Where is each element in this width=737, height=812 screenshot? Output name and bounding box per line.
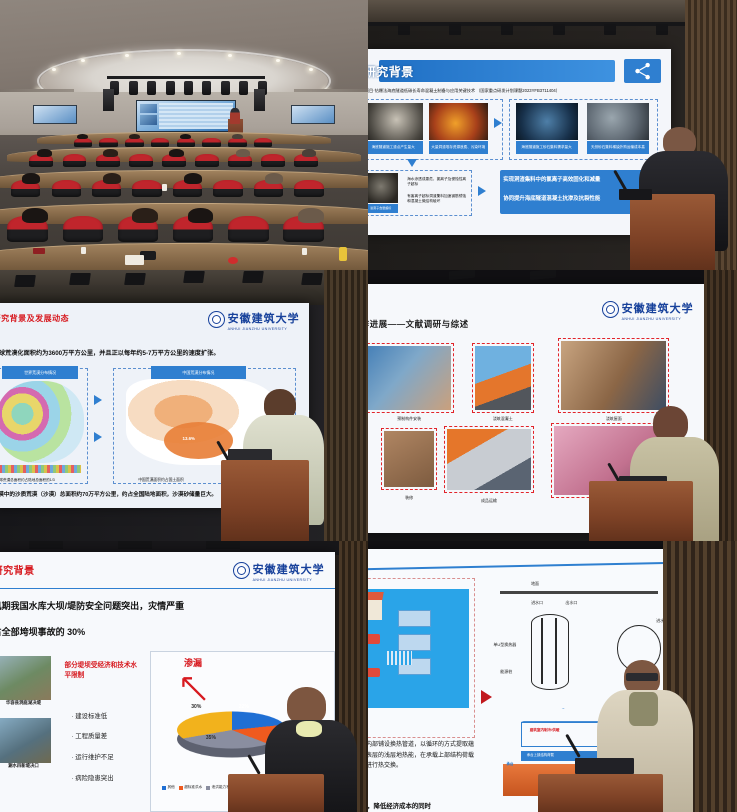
arrow-right-icon (481, 690, 492, 704)
presenter-head (653, 406, 688, 441)
callout-bullet-label: 建设标准低 (75, 713, 107, 720)
laptop (619, 189, 652, 200)
stage-lamp (239, 81, 248, 95)
audience-head (103, 149, 118, 157)
audience-head (298, 208, 324, 223)
photo-label: 海底隧道施工砂石集料需求量大 (516, 141, 578, 154)
map-caption-left: 全球荒漠总面积约占陆地总面积的1/3 (0, 478, 55, 483)
audience-head (22, 173, 40, 184)
seat (213, 180, 242, 198)
ceiling-band (368, 0, 737, 22)
seat (261, 154, 285, 168)
concrete-pour-photo (475, 346, 531, 410)
stage-lamp (14, 275, 36, 287)
pump-icon (368, 668, 380, 678)
u-tube (555, 618, 557, 684)
legend-swatch (206, 786, 210, 790)
stage-lamp (553, 24, 565, 35)
paper-sheet (125, 255, 144, 265)
conclusion-line: 实现洞渣集料中的氯离子高效固化和减量 (503, 175, 600, 183)
callout-bullet: · 工程质量差 (71, 731, 107, 740)
heat-exchanger-icon (398, 610, 431, 627)
audience-head (188, 208, 214, 223)
photo-label: 海底隧道施工渣点产生量大 (368, 141, 423, 154)
chloride-photo (368, 173, 398, 203)
podium (538, 774, 663, 812)
diagram-label-hvac: 建筑室内制冷/供暖 (530, 728, 560, 733)
dam-breach-photo-1 (0, 656, 51, 700)
university-name-cn: 安徽建筑大学 (228, 313, 300, 325)
slide-footer-text: 占面积，降低经济成本的同时 (368, 801, 431, 810)
stage-lamp (656, 24, 668, 35)
seat (151, 138, 169, 147)
glasses-icon (626, 673, 659, 681)
slide-bullet: 有害离子超标洞渣集料加速钢筋锈蚀和混凝土微结构破坏 (407, 194, 469, 204)
legend-swatch (162, 786, 166, 790)
university-name-en: ANHUI JIANZHU UNIVERSITY (228, 327, 300, 331)
stage-lamp (184, 81, 193, 95)
legend-label: 超标准洪水 (184, 785, 202, 790)
water-bottle (339, 247, 347, 261)
photo-caption: 华容县洞庭湖决堤 (0, 700, 58, 706)
callout-bullet-label: 工程质量差 (75, 733, 107, 740)
panel-literature-review: 安徽建筑大学 ANHUI JIANZHU UNIVERSITY 作进展——文献调… (368, 270, 737, 541)
callout-title: 部分堤坝受经济和技术水平限制 (65, 661, 140, 681)
slide-table-rows (159, 103, 233, 129)
downlight (52, 68, 56, 71)
projection-screen: 研究背景 子项目·钻爆法海底隧道低碳长寿命混凝土制备与应用关键技术 （国家重点研… (368, 49, 671, 235)
downlight (309, 68, 313, 71)
tunnel-photo (368, 103, 423, 140)
divider (0, 588, 335, 589)
podium (221, 460, 309, 541)
photo-caption: 涮水四新堤决口 (0, 763, 58, 769)
stage-lamp (147, 81, 156, 95)
stage-lamp (449, 24, 461, 35)
chart-annotation: 渗漏 (184, 656, 202, 669)
presenter-head (287, 687, 326, 723)
podium (228, 774, 324, 812)
coil-icon (387, 651, 413, 665)
laptop (575, 758, 634, 774)
notebook (33, 248, 45, 254)
side-screen-left (33, 105, 77, 124)
diagram-label-outlet: 出水口 (565, 600, 577, 606)
slide-headline: 汛期我国水库大坝/堤防安全问题突出，灾情严重 (0, 599, 184, 612)
audience-head (103, 173, 121, 184)
seating-area (0, 135, 368, 270)
audience-head (232, 134, 243, 139)
speaker-cabinet-left (103, 89, 114, 111)
audience-head (265, 173, 283, 184)
stage-lamp (221, 81, 230, 95)
panel-research-background-tunnel: 研究背景 子项目·钻爆法海底隧道低碳长寿命混凝土制备与应用关键技术 （国家重点研… (368, 0, 737, 270)
audience-head (22, 208, 48, 223)
stage-lamp (604, 24, 616, 35)
university-name-en: ANHUI JIANZHU UNIVERSITY (622, 317, 694, 321)
u-tube (541, 618, 543, 684)
interior-finishing-photo (384, 431, 433, 487)
stage-lamp (118, 541, 152, 549)
side-screen-right (291, 105, 335, 124)
slide-subtitle: 子项目·钻爆法海底隧道低碳长寿命混凝土制备与应用关键技术 （国家重点研发计划课题… (368, 88, 560, 94)
photo-frame (381, 428, 436, 490)
panel-auditorium (0, 0, 368, 270)
callout-bullet-label: 运行维护不足 (75, 754, 113, 761)
stage-backdrop: 安徽建筑大学 ANHUI JIANZHU UNIVERSITY 作进展——文献调… (368, 270, 737, 541)
presenter-collar (296, 721, 322, 737)
callout-bullet: · 运行维护不足 (71, 752, 113, 761)
stage-lamp (206, 541, 240, 549)
photo-caption: 成品运输 (451, 498, 527, 504)
audience-head (129, 134, 140, 139)
photo-frame (444, 426, 534, 493)
legend-swatch (179, 786, 183, 790)
legend-label: 其他 (168, 785, 175, 790)
pie-label-discharge: 35% (206, 735, 216, 741)
presenter (230, 108, 240, 124)
panel-energy-pile: 地面 进水口 出水口 单U型换热器 能源桩 进水口 建筑室内制冷/供暖 (368, 541, 737, 812)
callout-bullet: · 病险隐患突出 (71, 773, 113, 782)
slide-title: 研究背景及发展动态 (0, 313, 69, 324)
diagram-label-cap: 承台 (506, 762, 513, 767)
seat (195, 154, 219, 168)
stage-backdrop: 研究背景 安徽建筑大学 ANHUI JIANZHU UNIVERSITY 汛期我… (0, 541, 368, 812)
product-transport-photo (447, 429, 531, 490)
roof-outline (521, 708, 606, 721)
china-value-label: 13.6% (183, 436, 195, 441)
seat (177, 138, 195, 147)
arrow-right-icon (94, 395, 102, 405)
seat (254, 138, 272, 147)
university-logo: 安徽建筑大学 ANHUI JIANZHU UNIVERSITY (208, 309, 300, 331)
audience-head (236, 149, 251, 157)
photo-frame (558, 338, 669, 413)
diagram-label-inlet: 进水口 (531, 600, 543, 606)
stage-lamp (301, 273, 323, 285)
seat (202, 138, 220, 147)
cup (81, 247, 86, 254)
legend-item: 其他 (162, 785, 175, 790)
building-outline (521, 722, 606, 747)
world-map-image (0, 381, 84, 463)
share-icon-tile (624, 59, 661, 83)
red-object (228, 257, 238, 264)
diagram-label-exchanger: 单U型换热器 (493, 642, 516, 648)
audience-head (77, 134, 88, 139)
slide-title: 研究背景 (0, 562, 35, 577)
panel-dam-safety: 研究背景 安徽建筑大学 ANHUI JIANZHU UNIVERSITY 汛期我… (0, 541, 368, 812)
stage-lamp (242, 271, 264, 283)
university-seal-icon (233, 562, 250, 579)
university-seal-icon (208, 311, 225, 328)
seat (63, 216, 103, 242)
stage-lamp (183, 271, 205, 283)
callout-bullet: · 建设标准低 (71, 711, 107, 720)
map-legend (0, 465, 81, 473)
slide-thumbnail-bottom (140, 115, 157, 124)
pile-cylinder (531, 614, 569, 690)
desk-row-front (0, 243, 368, 270)
slide-title: 研究背景 (368, 63, 414, 80)
university-name-en: ANHUI JIANZHU UNIVERSITY (253, 578, 325, 582)
dam-breach-photo-2 (0, 718, 51, 762)
diagram-label-ground: 地面 (531, 581, 539, 587)
arrow-right-icon (94, 432, 102, 442)
pump-icon (368, 634, 380, 644)
stage-lamp (166, 81, 175, 95)
arrow-right-icon (494, 118, 502, 128)
stage-truss (107, 76, 265, 79)
ground-line (500, 591, 658, 594)
seat (228, 138, 246, 147)
pie-label-seepage: 30% (191, 704, 201, 710)
seat (294, 180, 323, 198)
audience-head (184, 173, 202, 184)
audience-head (302, 149, 317, 157)
audience-head (169, 149, 184, 157)
muck-pile-photo (429, 103, 488, 140)
photo-collage: 研究背景 子项目·钻爆法海底隧道低碳长寿命混凝土制备与应用关键技术 （国家重点研… (0, 0, 737, 812)
seat (52, 180, 81, 198)
legend-item: 超标准洪水 (179, 785, 202, 790)
audience-head (37, 149, 52, 157)
panel-desertification: 研究背景及发展动态 安徽建筑大学 ANHUI JIANZHU UNIVERSIT… (0, 270, 368, 541)
roof-pour-photo (561, 341, 666, 410)
conclusion-line: 协同提升海底隧道混凝土抗渗及抗裂性能 (503, 194, 600, 202)
seat (125, 138, 143, 147)
audience-head (132, 208, 158, 223)
photo-frame (472, 343, 534, 413)
stage-lamp (129, 81, 138, 95)
podium (630, 194, 715, 270)
slide-body-text: 全球荒漠化面积约为3600万平方公里，并且正以每年约5-7万平方公里的速度扩张。 (0, 348, 303, 357)
map-label-right: 中国荒漠分布情况 (151, 366, 246, 378)
heat-exchanger-icon (398, 634, 431, 651)
system-schematic-image (368, 589, 469, 709)
university-name-cn: 安徽建筑大学 (253, 564, 325, 576)
photo-caption: 装修 (381, 495, 436, 501)
seat (228, 216, 268, 242)
stage-lamp (501, 24, 513, 35)
slide-bullet: 海水渗透成患危，氯离子及侵蚀性离子超标 (407, 177, 469, 187)
stage-lamp (202, 81, 211, 95)
photo-caption: 浇筑混凝土 (472, 416, 534, 422)
map-label-left: 世界荒漠分布情况 (2, 366, 78, 378)
main-projection-screen (136, 100, 235, 132)
photo-frame (368, 343, 454, 413)
photo-caption: 预制构件安装 (371, 416, 447, 422)
stage-lamp (398, 24, 410, 35)
slide-body-text: 在桩体内部铺设换热管道，以循环的方式提取蕴藏在地表层的浅层地热能，在承载上部结构… (368, 740, 475, 771)
pie-label-other: 22% (239, 704, 249, 710)
photo-label: 氯离子含量超标 (368, 204, 398, 213)
wood-slat-wall (324, 270, 368, 541)
cup (302, 248, 307, 255)
seat (63, 154, 87, 168)
diagram-label-pile: 能源桩 (500, 669, 512, 675)
university-logo: 安徽建筑大学 ANHUI JIANZHU UNIVERSITY (233, 560, 325, 582)
speaker-cabinet-right (254, 89, 265, 111)
aggregate-photo (516, 103, 578, 140)
divider (368, 562, 678, 571)
seat (74, 138, 92, 147)
stage-lamp (29, 541, 63, 549)
podium (589, 481, 692, 541)
map-caption-right: 中国荒漠面积约占国土面积 (138, 478, 184, 483)
stage-lamp (69, 273, 91, 285)
slide-subline: 占全部垮坝事故的 30% (0, 625, 85, 638)
schematic-frame (368, 578, 475, 737)
presenter-shirt (629, 692, 658, 727)
diagram-label-load: 承台上部结构荷载 (527, 752, 554, 757)
chart-legend: 其他 超标准洪水 泄洪能力不足 (162, 785, 233, 790)
arrow-right-icon (478, 186, 486, 196)
stage-backdrop: 研究背景及发展动态 安徽建筑大学 ANHUI JIANZHU UNIVERSIT… (0, 270, 368, 541)
cup (162, 184, 167, 191)
stage-backdrop: 地面 进水口 出水口 单U型换热器 能源桩 进水口 建筑室内制冷/供暖 (368, 541, 737, 812)
precast-install-photo (368, 346, 451, 410)
seat (129, 154, 153, 168)
stage-backdrop: 研究背景 子项目·钻爆法海底隧道低碳长寿命混凝土制备与应用关键技术 （国家重点研… (368, 0, 737, 270)
photo-label: 大量洞渣堆存资源浪费、污染环境 (429, 141, 488, 154)
slide-thumbnail-top (140, 104, 157, 113)
slide-title-bar (379, 60, 615, 82)
slide-title: 作进展——文献调研与综述 (368, 318, 469, 330)
arrow-down-icon (407, 159, 417, 167)
seat (132, 180, 161, 198)
university-seal-icon (602, 301, 619, 318)
university-logo: 安徽建筑大学 ANHUI JIANZHU UNIVERSITY (602, 299, 694, 321)
university-name-cn: 安徽建筑大学 (622, 303, 694, 315)
stage-lamp (124, 273, 146, 285)
roof-icon (368, 592, 384, 600)
callout-bullet-label: 病险隐患突出 (75, 775, 113, 782)
share-icon (624, 59, 661, 83)
seat (99, 138, 117, 147)
audience-head (180, 134, 191, 139)
